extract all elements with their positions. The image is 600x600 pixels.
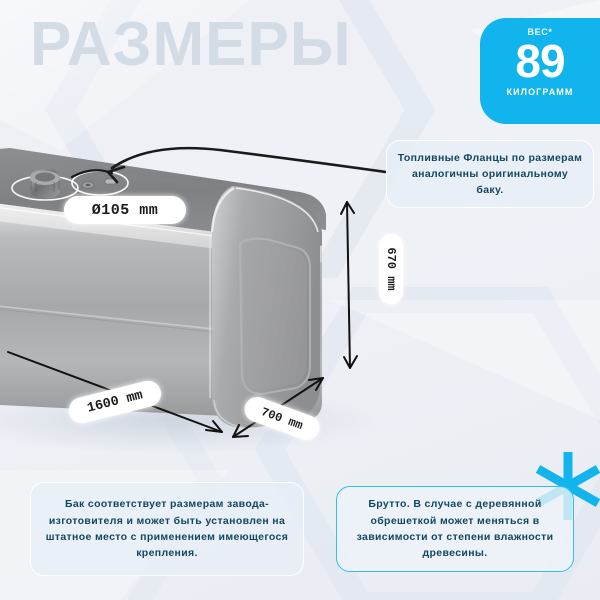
- dimension-label-diameter: Ø105 mm: [64, 196, 186, 224]
- callout-left-box: Бак соответствует размерам завода-изгото…: [30, 482, 304, 576]
- callout-left-text: Бак соответствует размерам завода-изгото…: [41, 496, 293, 561]
- callout-flange-box: Топливные Фланцы по размерам аналогичны …: [386, 140, 594, 208]
- weight-badge-caption: ВЕС*: [480, 27, 600, 37]
- weight-badge-unit: КИЛОГРАММ: [480, 87, 600, 97]
- poster-canvas: РАЗМЕРЫ: [0, 0, 600, 600]
- callout-right-box: Брутто. В случае с деревянной обрешеткой…: [336, 486, 574, 572]
- dimension-label-height: 670 mm: [379, 234, 403, 304]
- weight-badge: ВЕС* 89 КИЛОГРАММ: [480, 18, 600, 124]
- filler-cap-icon: [30, 169, 60, 199]
- weight-badge-value: 89: [480, 36, 600, 86]
- callout-right-text: Брутто. В случае с деревянной обрешеткой…: [347, 496, 563, 561]
- callout-flange-text: Топливные Фланцы по размерам аналогичны …: [397, 150, 583, 199]
